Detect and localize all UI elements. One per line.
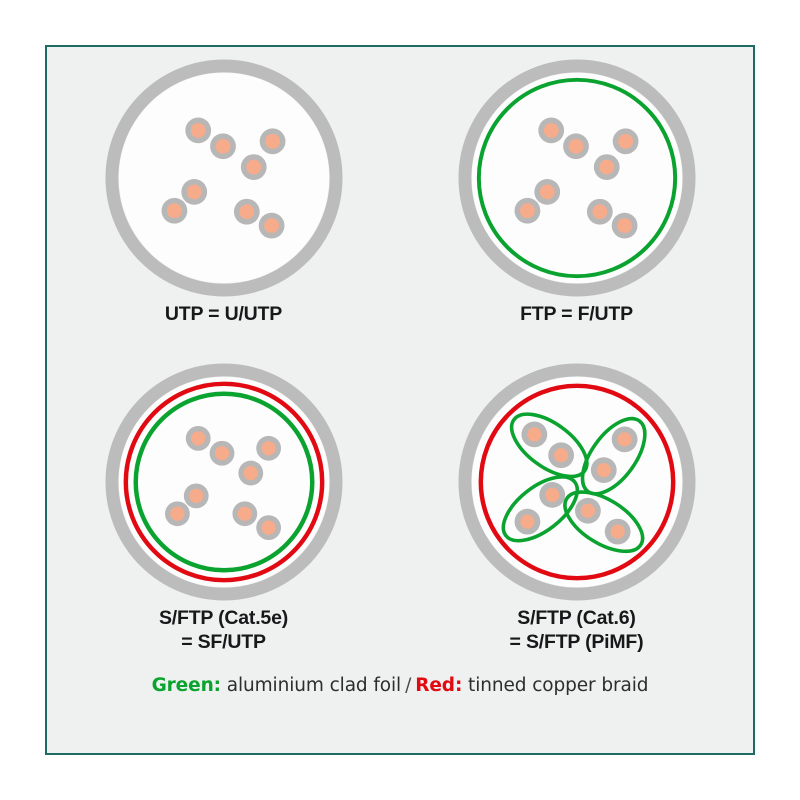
- sftp-cat5e-cell: S/FTP (Cat.5e) = SF/UTP: [47, 357, 400, 667]
- conductor: [563, 133, 589, 159]
- conductor: [514, 198, 540, 224]
- cable-core-fill: [118, 73, 328, 283]
- conductor: [183, 483, 208, 508]
- conductor: [185, 426, 210, 451]
- sftp-cat5e-diagram: [105, 363, 343, 601]
- ftp-diagram: [458, 59, 696, 297]
- legend-green-keyword: Green:: [152, 675, 221, 696]
- diagram-page: UTP = U/UTP: [0, 0, 800, 800]
- conductor: [240, 154, 266, 180]
- conductor: [232, 501, 257, 526]
- legend: Green: aluminium clad foil/Red: tinned c…: [47, 675, 753, 696]
- conductor: [181, 179, 207, 205]
- conductor: [548, 442, 574, 468]
- conductor: [534, 179, 560, 205]
- conductor: [256, 515, 281, 540]
- utp-diagram: [105, 59, 343, 297]
- conductor: [161, 198, 187, 224]
- conductor: [539, 482, 565, 508]
- conductor: [538, 118, 564, 144]
- conductor: [233, 199, 259, 225]
- cable-core-fill: [471, 73, 681, 283]
- conductor: [514, 509, 540, 535]
- sftp-cat6-diagram: [458, 363, 696, 601]
- cable-core-fill: [118, 377, 328, 587]
- utp-label: UTP = U/UTP: [165, 303, 282, 327]
- legend-separator: /: [401, 675, 415, 696]
- ftp-cell: FTP = F/UTP: [400, 47, 753, 357]
- conductor: [521, 422, 547, 448]
- cable-core-fill: [471, 377, 681, 587]
- conductor: [586, 199, 612, 225]
- legend-red-text: tinned copper braid: [468, 675, 648, 696]
- conductor: [612, 128, 638, 154]
- sftp-cat6-cell: S/FTP (Cat.6) = S/FTP (PiMF): [400, 357, 753, 667]
- conductor: [575, 498, 601, 524]
- legend-red-keyword: Red:: [415, 675, 462, 696]
- conductor: [164, 501, 189, 526]
- conductor: [238, 461, 263, 486]
- sftp-cat5e-label: S/FTP (Cat.5e) = SF/UTP: [159, 607, 288, 655]
- conductor: [259, 128, 285, 154]
- conductor: [256, 436, 281, 461]
- conductor: [611, 213, 637, 239]
- conductor: [590, 457, 616, 483]
- conductor: [210, 133, 236, 159]
- conductor: [604, 519, 630, 545]
- sftp-cat6-label: S/FTP (Cat.6) = S/FTP (PiMF): [510, 607, 644, 655]
- conductor: [593, 154, 619, 180]
- diagram-grid: UTP = U/UTP: [47, 47, 753, 667]
- utp-cell: UTP = U/UTP: [47, 47, 400, 357]
- conductor: [611, 426, 637, 452]
- diagram-panel: UTP = U/UTP: [45, 45, 755, 755]
- conductor: [258, 213, 284, 239]
- ftp-label: FTP = F/UTP: [520, 303, 633, 327]
- conductor: [185, 118, 211, 144]
- conductor: [209, 441, 234, 466]
- legend-green-text: aluminium clad foil: [227, 675, 401, 696]
